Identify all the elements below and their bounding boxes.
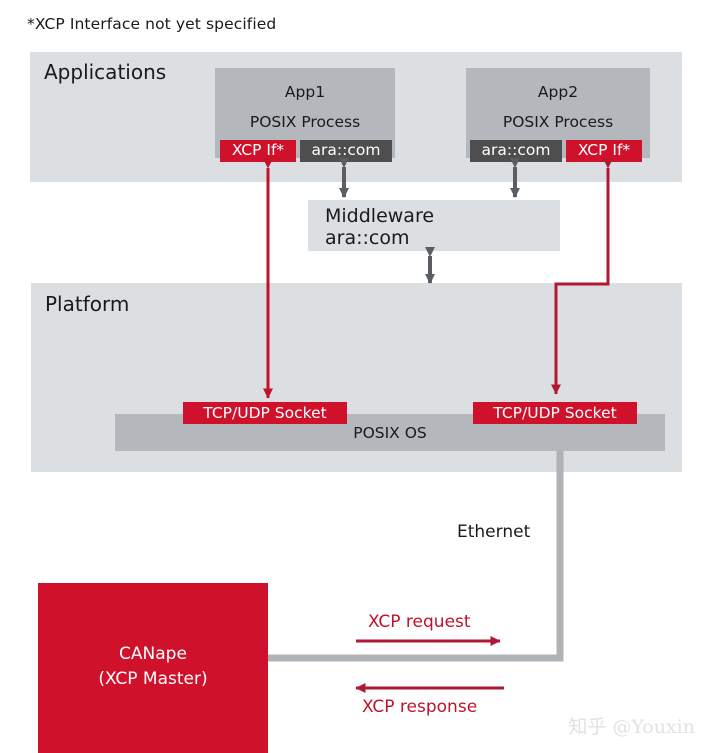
app1-badge-xcp-if[interactable]: XCP If*: [220, 140, 296, 162]
diagram-canvas: *XCP Interface not yet specified Applica…: [0, 0, 707, 753]
ethernet-label: Ethernet: [457, 522, 530, 542]
watermark: 知乎 @Youxin: [568, 712, 695, 739]
app1-badge-ara-com-label: ara::com: [312, 143, 381, 159]
middleware-box: Middleware ara::com: [308, 200, 560, 251]
footnote-text: *XCP Interface not yet specified: [27, 15, 276, 33]
xcp-request-label: XCP request: [368, 612, 471, 632]
tcp-udp-socket-left[interactable]: TCP/UDP Socket: [183, 402, 347, 424]
app2-badge-xcp-if[interactable]: XCP If*: [566, 140, 642, 162]
app2-subtitle: POSIX Process: [466, 113, 650, 131]
tcp-udp-socket-left-label: TCP/UDP Socket: [203, 404, 326, 422]
tcp-udp-socket-right-label: TCP/UDP Socket: [493, 404, 616, 422]
canape-line1: CANape: [38, 644, 268, 664]
tcp-udp-socket-right[interactable]: TCP/UDP Socket: [473, 402, 637, 424]
xcp-response-label: XCP response: [362, 697, 477, 717]
app1-subtitle: POSIX Process: [215, 113, 395, 131]
middleware-line1: Middleware: [325, 205, 434, 227]
canape-line2: (XCP Master): [38, 669, 268, 689]
app2-badge-xcp-if-label: XCP If*: [578, 143, 630, 159]
app1-badge-ara-com[interactable]: ara::com: [300, 140, 392, 162]
platform-layer-title: Platform: [45, 292, 129, 316]
middleware-line2: ara::com: [325, 227, 409, 249]
canape-box: CANape (XCP Master): [38, 583, 268, 753]
app2-badge-ara-com[interactable]: ara::com: [470, 140, 562, 162]
app2-name: App2: [466, 83, 650, 101]
posix-os-label: POSIX OS: [115, 424, 665, 442]
app1-name: App1: [215, 83, 395, 101]
applications-layer-title: Applications: [44, 60, 166, 84]
app1-badge-xcp-if-label: XCP If*: [232, 143, 284, 159]
app2-badge-ara-com-label: ara::com: [482, 143, 551, 159]
